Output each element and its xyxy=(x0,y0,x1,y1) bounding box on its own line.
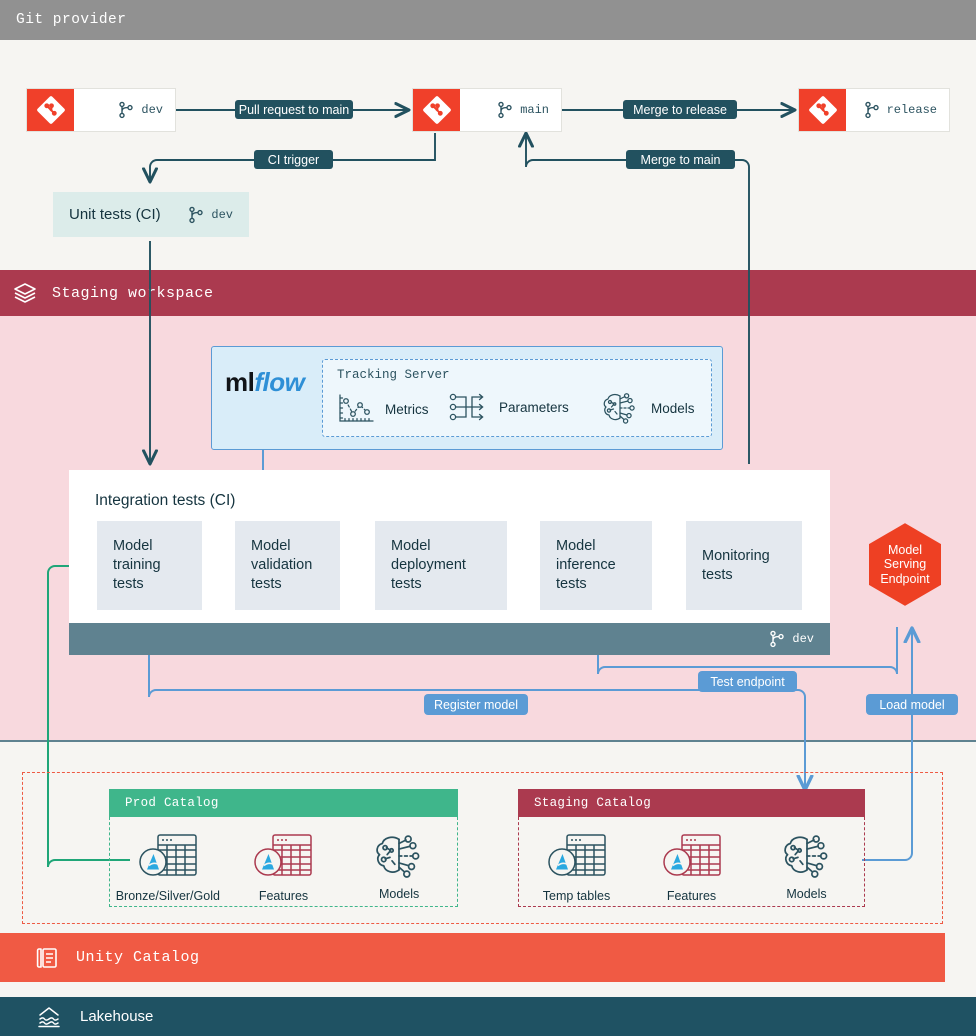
diagram-canvas: Git provider Staging workspace Unity Cat… xyxy=(0,0,976,1036)
tracking-item-label: Metrics xyxy=(385,402,429,417)
band-unity-catalog: Unity Catalog xyxy=(0,933,945,982)
brain-icon xyxy=(600,390,640,426)
table-icon xyxy=(661,831,723,883)
band-lakehouse-label: Lakehouse xyxy=(80,1008,153,1025)
table-icon xyxy=(252,831,314,883)
staging-catalog-header: Staging Catalog xyxy=(518,789,865,817)
parameters-icon xyxy=(448,392,490,422)
catalog-item-features[interactable]: Features xyxy=(229,831,337,903)
git-logo-icon xyxy=(27,89,74,131)
tracking-item-models: Models xyxy=(600,390,695,426)
repo-card-release[interactable]: release xyxy=(798,88,950,132)
tracking-item-label: Parameters xyxy=(499,400,569,415)
lakehouse-icon xyxy=(36,1005,62,1029)
branch-icon xyxy=(769,630,785,648)
test-step-label: Model inference tests xyxy=(556,537,616,594)
band-unity-catalog-label: Unity Catalog xyxy=(76,949,200,966)
catalog-item-models[interactable]: Models xyxy=(345,831,453,901)
pill-register-model: Register model xyxy=(424,694,528,715)
model-serving-endpoint-label: Model Serving Endpoint xyxy=(866,521,944,608)
staging-catalog-title: Staging Catalog xyxy=(534,796,651,810)
mlflow-logo-flow: flow xyxy=(254,367,304,398)
layers-icon xyxy=(12,280,38,306)
repo-card-main[interactable]: main xyxy=(412,88,562,132)
catalog-item-models[interactable]: Models xyxy=(753,831,861,901)
prod-catalog-header: Prod Catalog xyxy=(109,789,458,817)
catalog-item-label: Models xyxy=(379,887,419,901)
test-step-label: Model training tests xyxy=(113,537,161,594)
unit-tests-branch: dev xyxy=(211,208,233,222)
pill-merge-release: Merge to release xyxy=(623,100,737,119)
pill-test-endpoint: Test endpoint xyxy=(698,671,797,692)
band-git-provider: Git provider xyxy=(0,0,976,40)
prod-catalog-body: Bronze/Silver/Gold xyxy=(109,817,458,907)
pill-load-model: Load model xyxy=(866,694,958,715)
test-step-label: Model deployment tests xyxy=(391,537,466,594)
repo-branch-label: release xyxy=(887,103,937,117)
prod-catalog: Prod Catalog xyxy=(109,789,458,907)
brain-icon xyxy=(779,831,835,881)
pill-pull-request: Pull request to main xyxy=(235,100,353,119)
integration-branch-label: dev xyxy=(792,632,814,646)
branch-icon xyxy=(118,101,134,119)
catalog-item-temp-tables[interactable]: Temp tables xyxy=(523,831,631,903)
staging-catalog: Staging Catalog xyxy=(518,789,865,907)
git-logo-icon xyxy=(413,89,460,131)
line-chart-icon xyxy=(336,392,376,426)
test-step-monitoring[interactable]: Monitoring tests xyxy=(686,521,802,610)
repo-card-dev[interactable]: dev xyxy=(26,88,176,132)
brain-icon xyxy=(371,831,427,881)
table-icon xyxy=(137,831,199,883)
catalog-item-bronze-silver-gold[interactable]: Bronze/Silver/Gold xyxy=(114,831,222,903)
catalog-item-label: Features xyxy=(259,889,308,903)
catalog-item-label: Models xyxy=(786,887,826,901)
region-divider xyxy=(0,740,976,742)
pill-ci-trigger: CI trigger xyxy=(254,150,333,169)
tracking-server-title: Tracking Server xyxy=(337,368,450,382)
catalog-item-label: Features xyxy=(667,889,716,903)
repo-branch-label: dev xyxy=(141,103,163,117)
catalog-item-label: Bronze/Silver/Gold xyxy=(116,889,220,903)
unit-tests-box[interactable]: Unit tests (CI) dev xyxy=(53,192,249,237)
staging-catalog-body: Temp tables xyxy=(518,817,865,907)
test-step-label: Model validation tests xyxy=(251,537,312,594)
test-step-model-validation[interactable]: Model validation tests xyxy=(235,521,340,610)
catalog-item-label: Temp tables xyxy=(543,889,610,903)
pill-merge-main: Merge to main xyxy=(626,150,735,169)
test-step-model-deployment[interactable]: Model deployment tests xyxy=(375,521,507,610)
band-staging-workspace: Staging workspace xyxy=(0,270,976,316)
tracking-item-metrics: Metrics xyxy=(336,392,429,426)
branch-icon xyxy=(864,101,880,119)
band-staging-workspace-label: Staging workspace xyxy=(52,285,214,302)
prod-catalog-title: Prod Catalog xyxy=(125,796,219,810)
integration-dev-bar: dev xyxy=(69,623,830,655)
test-step-model-training[interactable]: Model training tests xyxy=(97,521,202,610)
test-step-label: Monitoring tests xyxy=(702,547,770,585)
unit-tests-label: Unit tests (CI) xyxy=(69,206,161,223)
table-icon xyxy=(546,831,608,883)
band-git-provider-label: Git provider xyxy=(16,12,126,28)
catalog-item-features[interactable]: Features xyxy=(638,831,746,903)
tracking-item-parameters: Parameters xyxy=(448,392,569,422)
git-logo-icon xyxy=(799,89,846,131)
tracking-item-label: Models xyxy=(651,401,695,416)
mlflow-logo-ml: ml xyxy=(225,367,254,398)
catalog-icon xyxy=(34,945,60,971)
integration-tests-title: Integration tests (CI) xyxy=(95,492,235,510)
branch-icon xyxy=(188,206,204,224)
model-serving-endpoint[interactable]: Model Serving Endpoint xyxy=(866,521,944,608)
mlflow-logo: ml flow xyxy=(225,367,325,397)
test-step-model-inference[interactable]: Model inference tests xyxy=(540,521,652,610)
repo-branch-label: main xyxy=(520,103,549,117)
band-lakehouse: Lakehouse xyxy=(0,997,976,1036)
branch-icon xyxy=(497,101,513,119)
